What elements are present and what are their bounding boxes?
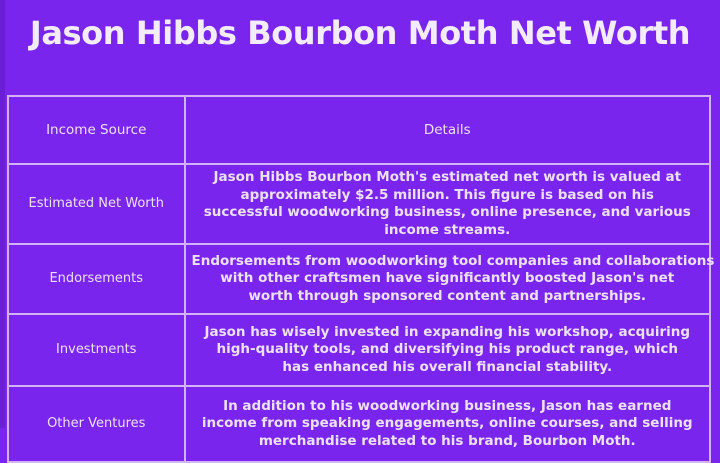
details-line: In addition to his woodworking business,… bbox=[192, 398, 704, 416]
column-header-details: Details bbox=[185, 96, 711, 164]
net-worth-table: Income Source Details Estimated Net Wort… bbox=[7, 95, 711, 463]
cell-income-source: Investments bbox=[8, 314, 185, 386]
details-line: Endorsements from woodworking tool compa… bbox=[192, 253, 704, 271]
table-row: Other Ventures In addition to his woodwo… bbox=[8, 386, 710, 462]
details-line: Jason has wisely invested in expanding h… bbox=[192, 324, 704, 342]
details-line: has enhanced his overall financial stabi… bbox=[192, 359, 704, 377]
left-edge-strip bbox=[0, 0, 5, 428]
cell-details: Endorsements from woodworking tool compa… bbox=[185, 244, 711, 314]
table-header-row: Income Source Details bbox=[8, 96, 710, 164]
details-line: income from speaking engagements, online… bbox=[192, 415, 704, 433]
details-line: approximately $2.5 million. This figure … bbox=[192, 187, 704, 205]
details-line: successful woodworking business, online … bbox=[192, 204, 704, 222]
cell-details: Jason has wisely invested in expanding h… bbox=[185, 314, 711, 386]
cell-income-source: Endorsements bbox=[8, 244, 185, 314]
cell-income-source: Estimated Net Worth bbox=[8, 164, 185, 244]
details-line: merchandise related to his brand, Bourbo… bbox=[192, 433, 704, 451]
cell-details: Jason Hibbs Bourbon Moth's estimated net… bbox=[185, 164, 711, 244]
table-row: Endorsements Endorsements from woodworki… bbox=[8, 244, 710, 314]
cell-details: In addition to his woodworking business,… bbox=[185, 386, 711, 462]
column-header-income-source: Income Source bbox=[8, 96, 185, 164]
details-line: Jason Hibbs Bourbon Moth's estimated net… bbox=[192, 169, 704, 187]
table-row: Investments Jason has wisely invested in… bbox=[8, 314, 710, 386]
details-line: income streams. bbox=[192, 222, 704, 240]
details-line: high-quality tools, and diversifying his… bbox=[192, 341, 704, 359]
details-line: with other craftsmen have significantly … bbox=[192, 270, 704, 288]
table-row: Estimated Net Worth Jason Hibbs Bourbon … bbox=[8, 164, 710, 244]
page-title: Jason Hibbs Bourbon Moth Net Worth bbox=[0, 14, 720, 52]
cell-income-source: Other Ventures bbox=[8, 386, 185, 462]
details-line: worth through sponsored content and part… bbox=[192, 288, 704, 306]
